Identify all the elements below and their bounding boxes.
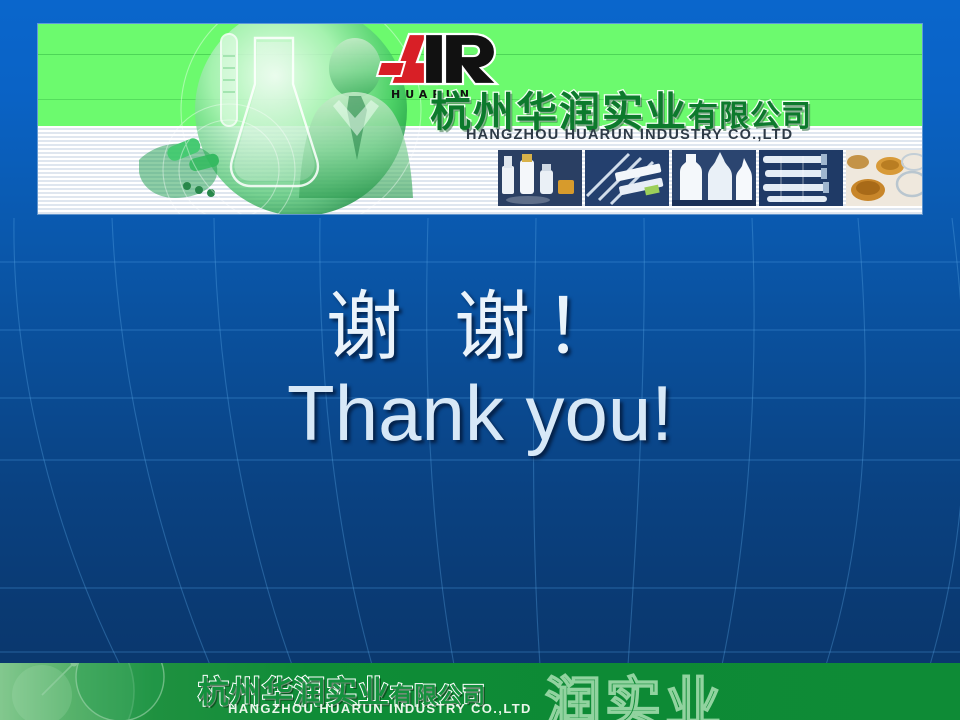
footer-company-name-en: HANGZHOU HUARUN INDUSTRY CO.,LTD — [228, 701, 532, 716]
product-photo-strip — [498, 150, 922, 206]
footer-watermark-text: 润实业 — [545, 663, 725, 720]
footer-bar: 润实业 杭州华润实业有限公司 HANGZHOU HUARUN INDUSTRY … — [0, 663, 960, 720]
product-photo-pump-spray-bottles — [498, 150, 582, 206]
presentation-slide: HUARUN 杭州华润实业有限公司 HANGZHOU HUARUN INDUST… — [0, 0, 960, 720]
thank-you-english: Thank you! — [0, 374, 960, 452]
product-photo-dropper-bottles — [672, 150, 756, 206]
banner-company-name-en: HANGZHOU HUARUN INDUSTRY CO.,LTD — [466, 127, 793, 143]
company-banner: HUARUN 杭州华润实业有限公司 HANGZHOU HUARUN INDUST… — [38, 24, 922, 214]
footer-decorative-circles — [0, 663, 220, 720]
product-photo-syringe-assembly-line — [585, 150, 669, 206]
product-photo-prefilled-syringes — [759, 150, 843, 206]
thank-you-chinese: 谢 谢！ — [0, 286, 960, 368]
closing-message: 谢 谢！ Thank you! — [0, 286, 960, 452]
product-photo-amber-vials — [846, 150, 922, 206]
